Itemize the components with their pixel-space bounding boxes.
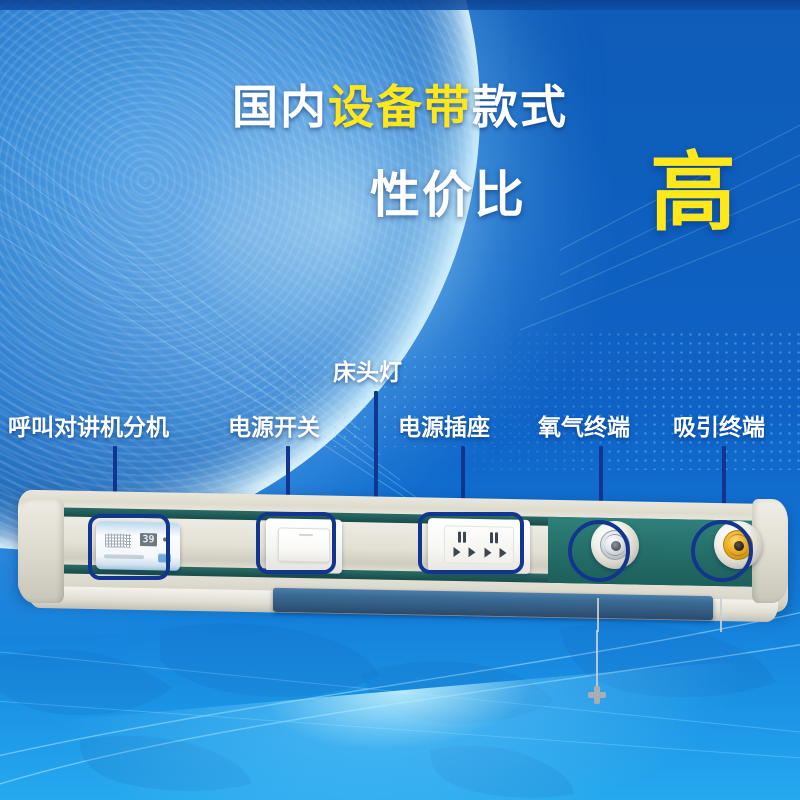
headline-part-white-1: 国内 bbox=[232, 81, 328, 133]
power-switch[interactable] bbox=[266, 518, 342, 573]
banner-stage: 国内设备带款式 性价比 高 呼叫对讲机分机 电源开关 床头灯 电源插座 氧气终端… bbox=[0, 0, 800, 800]
socket-slot-1 bbox=[454, 547, 461, 557]
suction-terminal[interactable] bbox=[714, 521, 762, 570]
socket-slot-2 bbox=[469, 547, 476, 557]
end-cap-left bbox=[18, 499, 64, 603]
callout-label-suction: 吸引终端 bbox=[673, 416, 765, 439]
suction-port bbox=[734, 541, 744, 551]
headline-accent-char: 高 bbox=[650, 150, 736, 236]
headline-line-2: 性价比 bbox=[370, 170, 526, 220]
rocker-marking bbox=[299, 534, 313, 536]
oxygen-terminal[interactable] bbox=[591, 521, 639, 570]
callout-label-power-socket: 电源插座 bbox=[398, 416, 490, 439]
world-map-silhouette bbox=[0, 600, 800, 800]
callout-label-bed-lamp: 床头灯 bbox=[333, 361, 402, 384]
callout-label-oxygen: 氧气终端 bbox=[538, 416, 630, 439]
intercom-unit[interactable]: 39 bbox=[96, 521, 180, 571]
intercom-display: 39 bbox=[140, 533, 157, 546]
callout-label-power-switch: 电源开关 bbox=[228, 416, 320, 439]
power-socket[interactable] bbox=[428, 518, 530, 574]
status-led-icon bbox=[163, 537, 167, 541]
intercom-call-button[interactable] bbox=[158, 553, 171, 562]
headline-line-1: 国内设备带款式 bbox=[0, 84, 800, 130]
speaker-grille-icon bbox=[105, 533, 131, 547]
bed-head-unit: 39 bbox=[18, 497, 788, 617]
callout-label-intercom: 呼叫对讲机分机 bbox=[8, 416, 169, 439]
headline-part-yellow: 设备带 bbox=[328, 81, 472, 133]
oxygen-faceplate bbox=[600, 530, 630, 561]
pull-cord[interactable] bbox=[596, 630, 598, 692]
headline-part-white-2: 款式 bbox=[472, 81, 568, 133]
headline-block: 国内设备带款式 bbox=[0, 84, 800, 130]
socket-slot-4 bbox=[500, 548, 507, 558]
oxygen-port bbox=[611, 541, 621, 551]
top-band bbox=[0, 0, 800, 10]
socket-pin-pair-right bbox=[490, 532, 498, 543]
oxygen-cord bbox=[597, 598, 599, 632]
socket-slot-3 bbox=[485, 548, 492, 558]
intercom-slot bbox=[104, 554, 144, 559]
suction-cord bbox=[720, 598, 722, 632]
pull-cord-hook[interactable] bbox=[588, 686, 606, 704]
socket-pin-pair-left bbox=[458, 532, 466, 543]
socket-faceplate bbox=[444, 525, 514, 564]
suction-faceplate bbox=[723, 530, 753, 561]
rocker-paddle[interactable] bbox=[278, 528, 330, 563]
